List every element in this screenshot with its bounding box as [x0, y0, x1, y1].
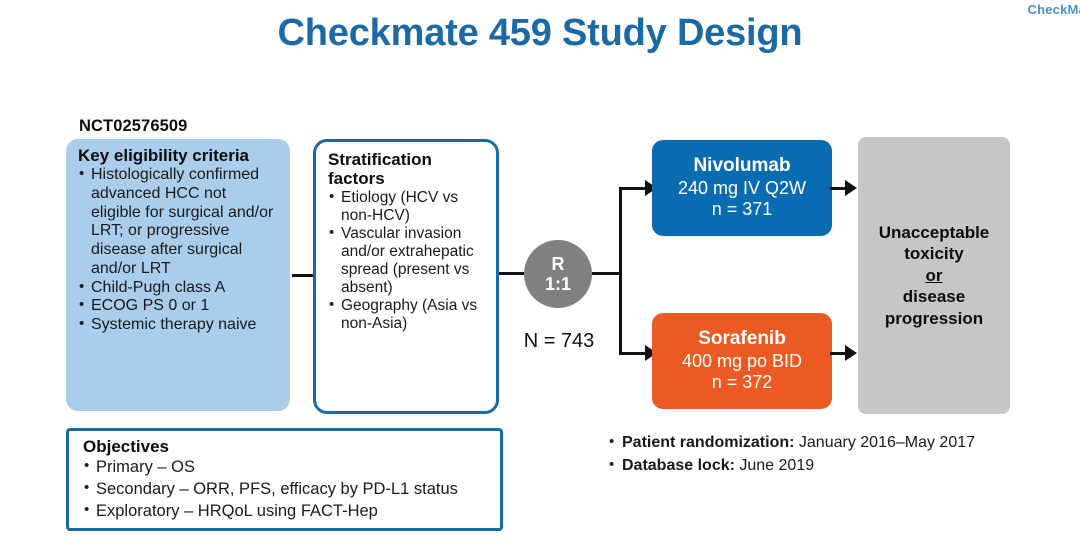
- arrow-icon-sorafenib-outcome: [845, 345, 857, 361]
- eligibility-list: Histologically confirmed advanced HCC no…: [78, 166, 280, 334]
- footnote-label: Database lock:: [622, 457, 735, 474]
- treatment-arm-sorafenib: Sorafenib 400 mg po BID n = 372: [652, 313, 832, 409]
- list-item: Systemic therapy naive: [78, 316, 280, 335]
- treatment-arm-nivolumab: Nivolumab 240 mg IV Q2W n = 371: [652, 140, 832, 236]
- randomization-label: R: [552, 254, 565, 274]
- list-item: Geography (Asia vs non-Asia): [328, 297, 490, 333]
- endpoint-line-4: disease: [879, 286, 990, 308]
- connector-eligibility-stratification: [292, 274, 314, 277]
- treatment-endpoint-box: Unacceptable toxicity or disease progres…: [858, 137, 1010, 414]
- list-item: Secondary – ORR, PFS, efficacy by PD-L1 …: [83, 479, 492, 501]
- arm-sample-size: n = 372: [712, 372, 773, 394]
- arm-sample-size: n = 371: [712, 199, 773, 221]
- eligibility-criteria-box: Key eligibility criteria Histologically …: [66, 139, 290, 411]
- list-item: Etiology (HCV vs non-HCV): [328, 189, 490, 225]
- list-item: ECOG PS 0 or 1: [78, 297, 280, 316]
- page-title: Checkmate 459 Study Design: [0, 12, 1080, 55]
- endpoint-line-2: toxicity: [879, 243, 990, 265]
- connector-vertical-splitter: [619, 187, 622, 355]
- total-enrollment: N = 743: [515, 330, 603, 353]
- stratification-heading: Stratification factors: [328, 150, 490, 188]
- arm-dose: 400 mg po BID: [682, 351, 802, 373]
- randomization-node: R 1:1: [524, 240, 592, 308]
- footnote-label: Patient randomization:: [622, 434, 794, 451]
- list-item: Child-Pugh class A: [78, 279, 280, 298]
- footnote-value: June 2019: [735, 457, 814, 474]
- connector-stratification-randomization: [499, 272, 525, 275]
- endpoint-line-1: Unacceptable: [879, 222, 990, 244]
- study-dates-footnotes: Patient randomization: January 2016–May …: [608, 432, 1048, 477]
- nct-identifier: NCT02576509: [79, 117, 187, 136]
- footnote-value: January 2016–May 2017: [794, 434, 975, 451]
- arrow-icon-nivolumab-outcome: [845, 180, 857, 196]
- arm-name: Nivolumab: [693, 155, 790, 178]
- list-item: Histologically confirmed advanced HCC no…: [78, 166, 280, 278]
- list-item: Primary – OS: [83, 457, 492, 479]
- endpoint-line-3: or: [879, 265, 990, 287]
- stratification-factors-box: Stratification factors Etiology (HCV vs …: [313, 139, 499, 414]
- list-item: Database lock: June 2019: [608, 455, 1048, 478]
- endpoint-line-5: progression: [879, 308, 990, 330]
- endpoint-text: Unacceptable toxicity or disease progres…: [879, 222, 990, 330]
- connector-randomization-stem: [592, 272, 622, 275]
- list-item: Patient randomization: January 2016–May …: [608, 432, 1048, 455]
- objectives-box: Objectives Primary – OS Secondary – ORR,…: [66, 428, 503, 531]
- list-item: Vascular invasion and/or extrahepatic sp…: [328, 225, 490, 297]
- stratification-list: Etiology (HCV vs non-HCV) Vascular invas…: [328, 189, 490, 333]
- list-item: Exploratory – HRQoL using FACT-Hep: [83, 501, 492, 523]
- randomization-ratio: 1:1: [545, 274, 571, 294]
- objectives-heading: Objectives: [83, 437, 492, 456]
- arm-name: Sorafenib: [698, 328, 786, 351]
- slide-canvas: CheckMa Checkmate 459 Study Design NCT02…: [0, 0, 1080, 558]
- footnote-list: Patient randomization: January 2016–May …: [608, 432, 1048, 477]
- eligibility-heading: Key eligibility criteria: [78, 146, 280, 165]
- objectives-list: Primary – OS Secondary – ORR, PFS, effic…: [83, 457, 492, 522]
- arm-dose: 240 mg IV Q2W: [678, 178, 806, 200]
